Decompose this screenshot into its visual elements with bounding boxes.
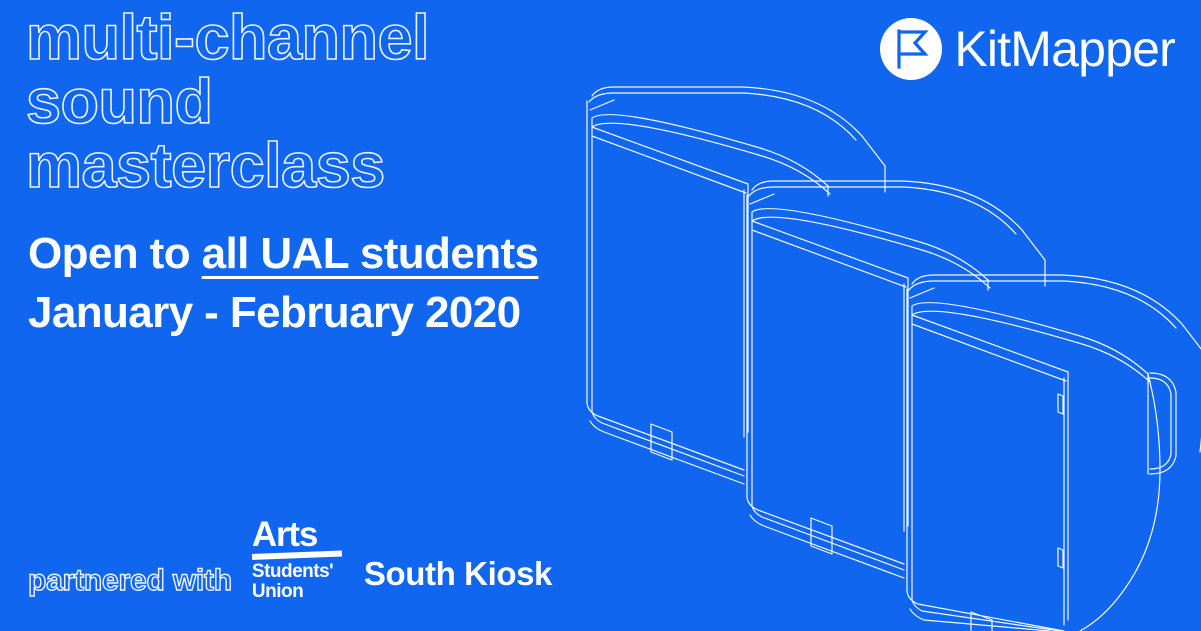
speaker-cabinet-3 [907,275,1201,631]
arts-su-word-students: Students' [252,562,333,581]
promo-banner: multi-channel sound masterclass Open to … [0,0,1201,631]
subheadline: Open to all UAL students January - Febru… [28,224,538,342]
kitmapper-wordmark: KitMapper [954,22,1175,76]
subheadline-audience-prefix: Open to [28,229,202,278]
subheadline-dates: January - February 2020 [28,283,538,342]
headline-line-2: sound [26,70,666,134]
arts-su-word-arts: Arts [252,518,317,551]
kitmapper-flag-mark [880,18,942,80]
headline-line-1: multi-channel [26,6,666,70]
subheadline-audience-emphasis: all UAL students [202,229,539,278]
kitmapper-logo[interactable]: KitMapper [880,18,1175,80]
partners-row: partnered with Arts Students' Union Sout… [28,518,552,603]
speaker-carry-handle [1148,373,1176,474]
south-kiosk-label: South Kiosk [364,557,552,591]
headline: multi-channel sound masterclass [26,6,666,198]
headline-line-3: masterclass [26,134,666,198]
partnered-with-label: partnered with [28,565,232,597]
speaker-cabinet-2 [747,181,1045,578]
subheadline-audience: Open to all UAL students [28,224,538,283]
arts-students-union-logo[interactable]: Arts Students' Union [252,518,344,601]
arts-su-word-union: Union [252,582,303,601]
